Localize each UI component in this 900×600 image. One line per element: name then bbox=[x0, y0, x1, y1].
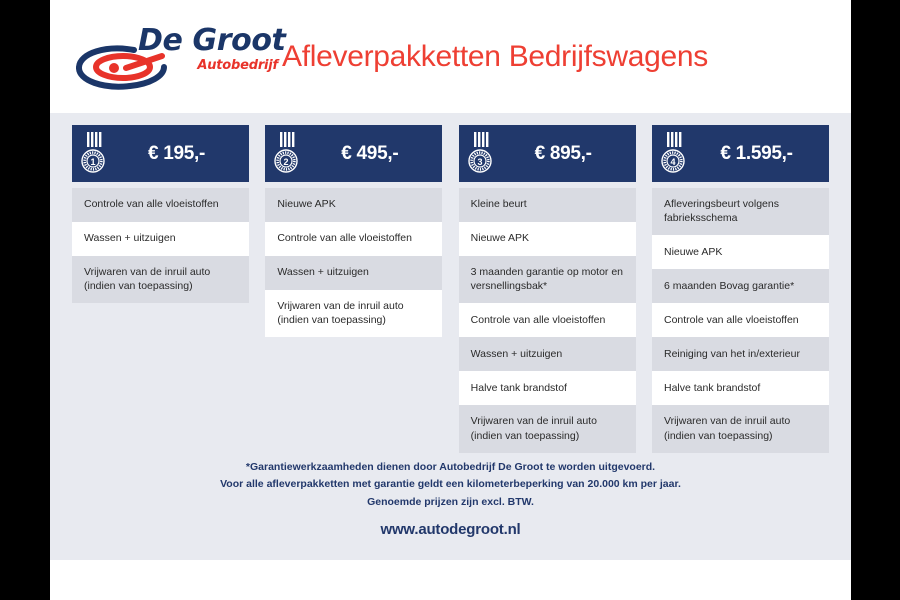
disclaimer-line-2: Voor alle afleverpakketten met garantie … bbox=[50, 476, 851, 493]
package-item: Wassen + uitzuigen bbox=[265, 256, 442, 290]
package-item: Nieuwe APK bbox=[265, 188, 442, 222]
disclaimer-line-1: *Garantiewerkzaamheden dienen door Autob… bbox=[50, 459, 851, 476]
package-item: Nieuwe APK bbox=[459, 222, 636, 256]
package-item: Halve tank brandstof bbox=[459, 371, 636, 405]
brand-logo[interactable]: De Groot Autobedrijf bbox=[76, 24, 276, 94]
package-price: € 1.595,- bbox=[690, 143, 829, 165]
package-item: Wassen + uitzuigen bbox=[459, 337, 636, 371]
brand-name: De Groot bbox=[138, 26, 278, 56]
package-column: 1€ 195,-Controle van alle vloeistoffenWa… bbox=[72, 125, 249, 453]
packages-columns: 1€ 195,-Controle van alle vloeistoffenWa… bbox=[50, 113, 851, 453]
package-item: Controle van alle vloeistoffen bbox=[652, 303, 829, 337]
package-price: € 495,- bbox=[303, 143, 442, 165]
package-item-list: Afleveringsbeurt volgens fabrieksschemaN… bbox=[652, 188, 829, 453]
package-item: Vrijwaren van de inruil auto (indien van… bbox=[459, 405, 636, 452]
package-item: 3 maanden garantie op motor en versnelli… bbox=[459, 256, 636, 303]
packages-panel: 1€ 195,-Controle van alle vloeistoffenWa… bbox=[50, 113, 851, 560]
package-column: 3€ 895,-Kleine beurtNieuwe APK3 maanden … bbox=[459, 125, 636, 453]
page-title: Afleverpakketten Bedrijfswagens bbox=[282, 40, 708, 74]
package-item: Controle van alle vloeistoffen bbox=[265, 222, 442, 256]
package-item: Vrijwaren van de inruil auto (indien van… bbox=[72, 256, 249, 303]
package-header[interactable]: 4€ 1.595,- bbox=[652, 125, 829, 182]
package-item-list: Nieuwe APKControle van alle vloeistoffen… bbox=[265, 188, 442, 337]
package-item: Halve tank brandstof bbox=[652, 371, 829, 405]
package-item: Kleine beurt bbox=[459, 188, 636, 222]
brand-logo-text: De Groot Autobedrijf bbox=[138, 26, 278, 73]
header-bar: De Groot Autobedrijf Afleverpakketten Be… bbox=[50, 0, 851, 113]
package-item: Nieuwe APK bbox=[652, 235, 829, 269]
medal-icon: 4 bbox=[660, 131, 686, 177]
package-item: Vrijwaren van de inruil auto (indien van… bbox=[652, 405, 829, 452]
package-item: Controle van alle vloeistoffen bbox=[459, 303, 636, 337]
package-header[interactable]: 3€ 895,- bbox=[459, 125, 636, 182]
brand-subtitle: Autobedrijf bbox=[138, 58, 278, 73]
package-column: 4€ 1.595,-Afleveringsbeurt volgens fabri… bbox=[652, 125, 829, 453]
package-item: 6 maanden Bovag garantie* bbox=[652, 269, 829, 303]
package-item: Afleveringsbeurt volgens fabrieksschema bbox=[652, 188, 829, 235]
package-item: Vrijwaren van de inruil auto (indien van… bbox=[265, 290, 442, 337]
package-item: Reiniging van het in/exterieur bbox=[652, 337, 829, 371]
website-link[interactable]: www.autodegroot.nl bbox=[50, 521, 851, 538]
svg-text:3: 3 bbox=[477, 157, 482, 167]
package-price: € 895,- bbox=[497, 143, 636, 165]
svg-text:1: 1 bbox=[90, 157, 95, 167]
flyer-canvas: De Groot Autobedrijf Afleverpakketten Be… bbox=[50, 0, 851, 600]
medal-icon: 2 bbox=[273, 131, 299, 177]
package-item: Wassen + uitzuigen bbox=[72, 222, 249, 256]
package-header[interactable]: 2€ 495,- bbox=[265, 125, 442, 182]
package-item-list: Kleine beurtNieuwe APK3 maanden garantie… bbox=[459, 188, 636, 453]
package-header[interactable]: 1€ 195,- bbox=[72, 125, 249, 182]
svg-text:4: 4 bbox=[670, 157, 675, 167]
screenshot-root: De Groot Autobedrijf Afleverpakketten Be… bbox=[0, 0, 900, 600]
package-item-list: Controle van alle vloeistoffenWassen + u… bbox=[72, 188, 249, 303]
disclaimer-line-3: Genoemde prijzen zijn excl. BTW. bbox=[50, 494, 851, 511]
package-column: 2€ 495,-Nieuwe APKControle van alle vloe… bbox=[265, 125, 442, 453]
footer-disclaimer: *Garantiewerkzaamheden dienen door Autob… bbox=[50, 459, 851, 511]
medal-icon: 3 bbox=[467, 131, 493, 177]
package-item: Controle van alle vloeistoffen bbox=[72, 188, 249, 222]
medal-icon: 1 bbox=[80, 131, 106, 177]
svg-text:2: 2 bbox=[284, 157, 289, 167]
package-price: € 195,- bbox=[110, 143, 249, 165]
